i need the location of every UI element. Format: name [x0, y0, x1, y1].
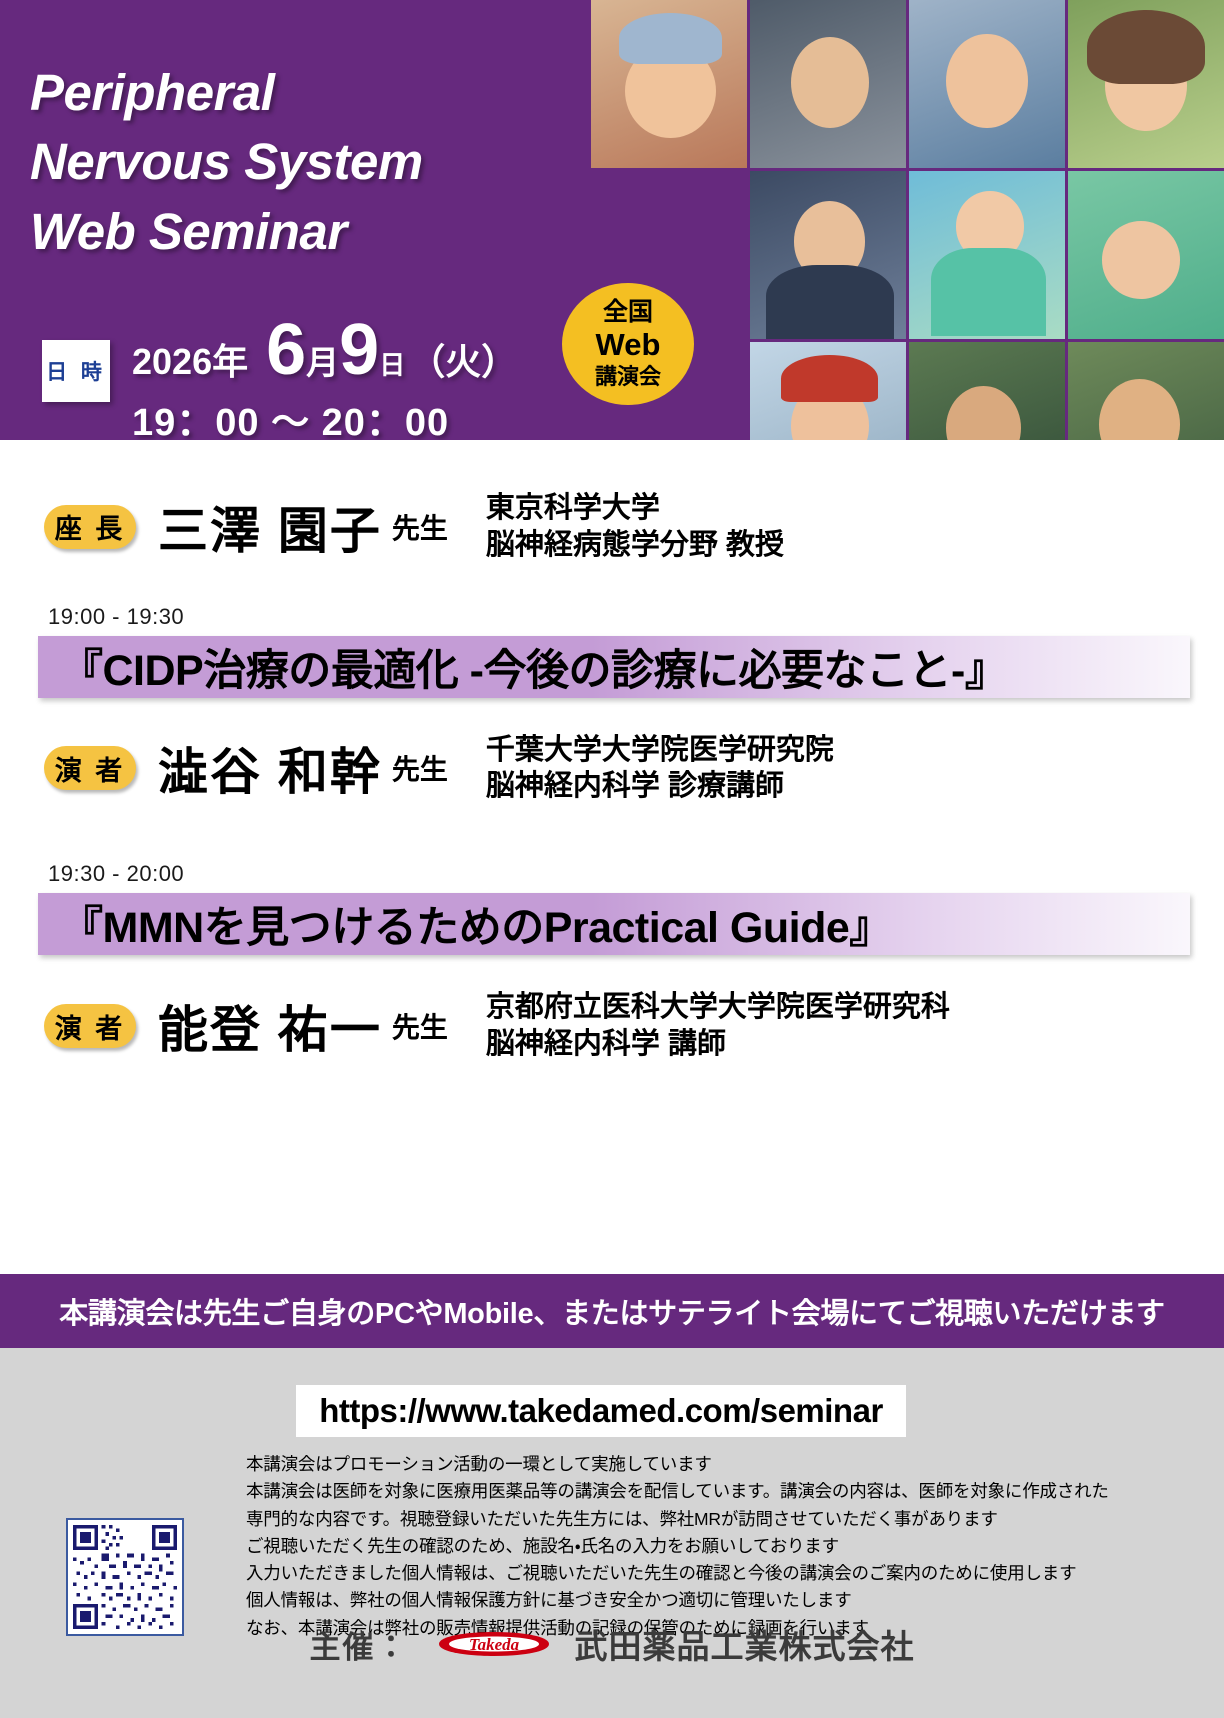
- session-2-speaker-affiliation: 京都府立医科大学大学院医学研究科 脳神経内科学 講師: [486, 989, 950, 1063]
- event-month-number: 6: [266, 318, 306, 383]
- collage-cell: [750, 0, 906, 168]
- event-day-unit: 日: [379, 345, 405, 382]
- datetime-label: 日 時: [42, 340, 110, 402]
- session-2-speaker-row: 演 者 能登 祐一 先生 京都府立医科大学大学院医学研究科 脳神経内科学 講師: [0, 989, 1224, 1063]
- viewing-notice-text: 本講演会は先生ご自身のPCやMobile、またはサテライト会場にてご視聴いただけ…: [59, 1290, 1165, 1332]
- nationwide-web-badge: 全国 Web 講演会: [562, 283, 694, 405]
- collage-cell: [432, 171, 588, 339]
- collage-cell: [1068, 342, 1224, 440]
- badge-line-3: 講演会: [595, 364, 661, 390]
- session-2-title: 『MMNを見つけるためのPractical Guide』: [38, 893, 892, 955]
- collage-cell: [1068, 0, 1224, 168]
- header-banner: Peripheral Nervous System Web Seminar 日 …: [0, 0, 1224, 440]
- chair-affiliation: 東京科学大学 脳神経病態学分野 教授: [486, 490, 784, 564]
- badge-line-1: 全国: [603, 298, 653, 328]
- collage-cell: [750, 171, 906, 339]
- session-2: 19:30 - 20:00 『MMNを見つけるためのPractical Guid…: [0, 861, 1224, 1063]
- registration-url-box[interactable]: https://www.takedamed.com/seminar: [296, 1385, 906, 1437]
- collage-cell: [909, 0, 1065, 168]
- program-content: 座 長 三澤 園子 先生 東京科学大学 脳神経病態学分野 教授 19:00 - …: [0, 490, 1224, 1063]
- registration-url[interactable]: https://www.takedamed.com/seminar: [319, 1392, 883, 1430]
- event-time-range: 19：00 ～ 20：00: [132, 391, 517, 440]
- takeda-logo-icon: Takeda: [435, 1622, 553, 1666]
- session-1-time: 19:00 - 19:30: [0, 604, 1224, 630]
- disclaimer-text: 本講演会はプロモーション活動の一環として実施しています 本講演会は医師を対象に医…: [246, 1451, 1196, 1642]
- collage-cell: [750, 342, 906, 440]
- chair-honorific: 先生: [392, 507, 448, 547]
- session-1-speaker-role-badge: 演 者: [44, 746, 136, 790]
- session-2-title-bar: 『MMNを見つけるためのPractical Guide』: [38, 893, 1190, 955]
- collage-cell: [909, 342, 1065, 440]
- collage-cell: [909, 171, 1065, 339]
- sponsor-name: 武田薬品工業株式会社: [575, 1620, 915, 1668]
- event-month-unit: 月: [306, 336, 339, 384]
- session-1: 19:00 - 19:30 『CIDP治療の最適化 -今後の診療に必要なこと-』…: [0, 604, 1224, 806]
- collage-cell: [591, 0, 747, 168]
- photo-collage: [432, 0, 1224, 440]
- collage-cell: [1068, 171, 1224, 339]
- event-day-of-week: （火）: [409, 333, 517, 385]
- session-1-speaker-affiliation: 千葉大学大学院医学研究院 脳神経内科学 診療講師: [486, 732, 834, 806]
- session-1-title-bar: 『CIDP治療の最適化 -今後の診療に必要なこと-』: [38, 636, 1190, 698]
- session-1-speaker-honorific: 先生: [392, 748, 448, 788]
- seminar-title: Peripheral Nervous System Web Seminar: [30, 58, 423, 266]
- collage-cell: [432, 0, 588, 168]
- chairperson-row: 座 長 三澤 園子 先生 東京科学大学 脳神経病態学分野 教授: [0, 490, 1224, 564]
- badge-line-2: Web: [596, 327, 661, 364]
- event-day-number: 9: [339, 318, 379, 383]
- viewing-notice-strip: 本講演会は先生ご自身のPCやMobile、またはサテライト会場にてご視聴いただけ…: [0, 1274, 1224, 1348]
- session-2-speaker-honorific: 先生: [392, 1006, 448, 1046]
- session-2-speaker-role-badge: 演 者: [44, 1004, 136, 1048]
- session-2-time: 19:30 - 20:00: [0, 861, 1224, 887]
- datetime-block: 日 時 2026年 6 月 9 日 （火） 19：00 ～ 20：00: [42, 318, 517, 440]
- session-1-title: 『CIDP治療の最適化 -今後の診療に必要なこと-』: [38, 636, 1007, 698]
- chair-name: 三澤 園子: [158, 491, 382, 563]
- session-2-speaker-name: 能登 祐一: [158, 990, 382, 1062]
- event-date: 2026年 6 月 9 日 （火）: [132, 318, 517, 385]
- sponsor-row: 主催： Takeda 武田薬品工業株式会社: [0, 1620, 1224, 1668]
- session-1-speaker-row: 演 者 澁谷 和幹 先生 千葉大学大学院医学研究院 脳神経内科学 診療講師: [0, 732, 1224, 806]
- sponsor-label: 主催：: [310, 1622, 409, 1667]
- chair-role-badge: 座 長: [44, 505, 136, 549]
- qr-code-icon[interactable]: [66, 1518, 184, 1636]
- session-1-speaker-name: 澁谷 和幹: [158, 732, 382, 804]
- event-year: 2026年: [132, 333, 248, 385]
- footer: https://www.takedamed.com/seminar: [0, 1348, 1224, 1718]
- svg-text:Takeda: Takeda: [468, 1635, 519, 1654]
